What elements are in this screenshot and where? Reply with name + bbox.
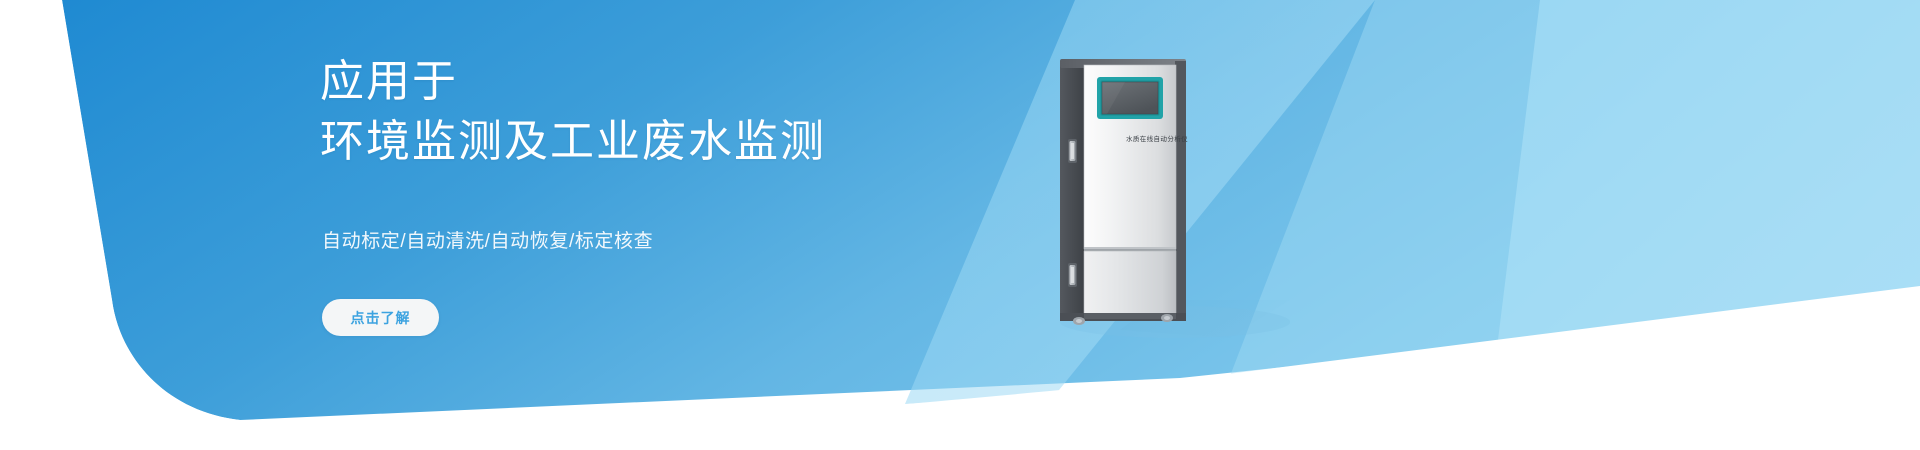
banner-subtitle: 自动标定/自动清洗/自动恢复/标定核查 bbox=[322, 228, 653, 256]
water-quality-analyzer-cabinet-icon: 水质在线自动分析仪 bbox=[1055, 55, 1245, 325]
page-title: 应用于 环境监测及工业废水监测 bbox=[320, 52, 826, 172]
headline-line-2: 环境监测及工业废水监测 bbox=[320, 112, 826, 172]
promo-banner: 水质在线自动分析仪 应用于 环境监测及工业废水监测 自动标定/自动清洗/自动恢复… bbox=[0, 0, 1920, 450]
learn-more-button[interactable]: 点击了解 bbox=[322, 299, 439, 336]
headline-line-1: 应用于 bbox=[320, 52, 826, 112]
banner-content: 应用于 环境监测及工业废水监测 自动标定/自动清洗/自动恢复/标定核查 点击了解 bbox=[320, 0, 1080, 450]
